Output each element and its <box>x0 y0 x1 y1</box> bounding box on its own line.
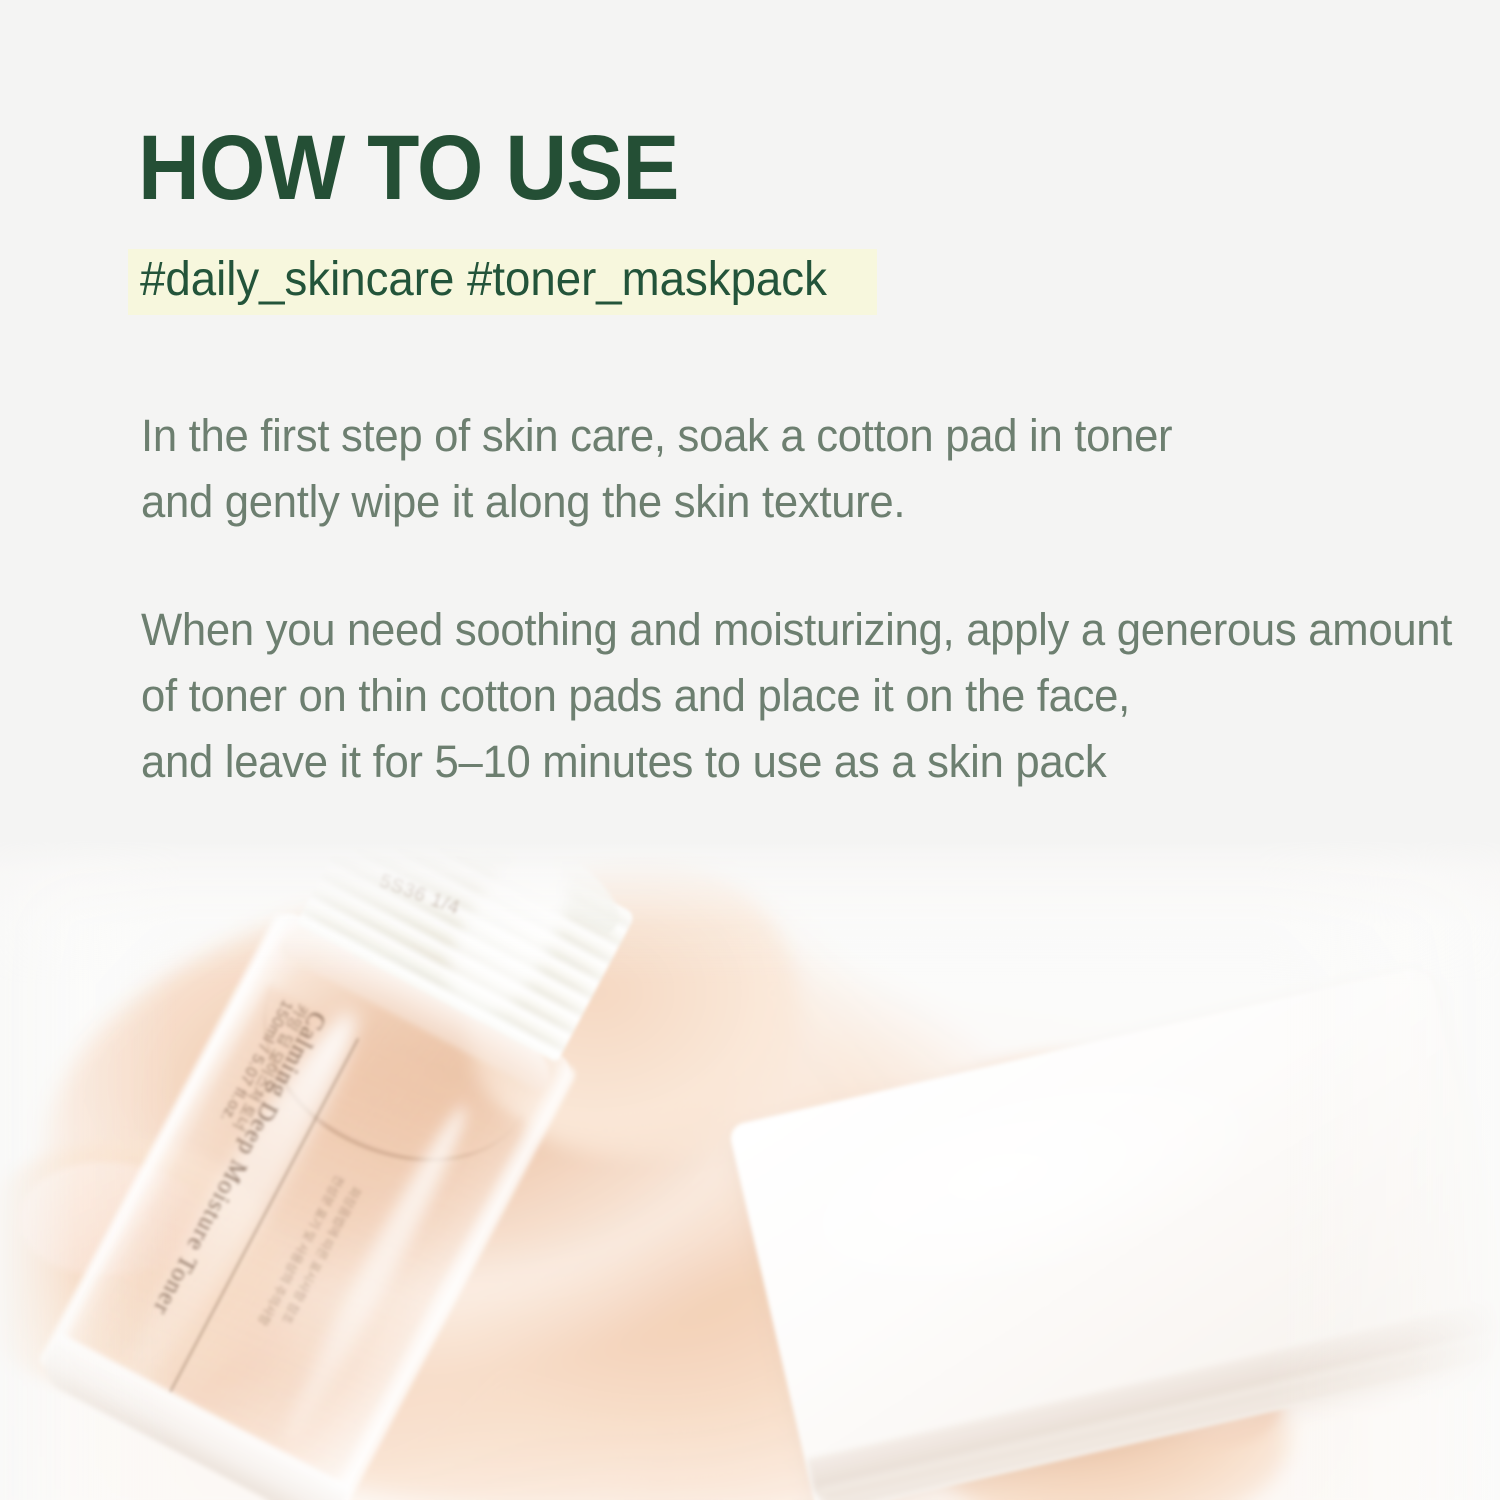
instruction-line: and leave it for 5–10 minutes to use as … <box>141 729 1452 795</box>
how-to-use-infographic: HOW TO USE #daily_skincare #toner_maskpa… <box>0 0 1500 1500</box>
page-title: HOW TO USE <box>138 122 679 214</box>
instruction-line: In the first step of skin care, soak a c… <box>141 403 1452 469</box>
instruction-line: and gently wipe it along the skin textur… <box>141 469 1452 535</box>
instruction-line: of toner on thin cotton pads and place i… <box>141 663 1452 729</box>
product-photo: Calming Deep Moisture Toner 카밍 딥 모이스처 토너… <box>0 840 1500 1500</box>
instructions-body: In the first step of skin care, soak a c… <box>141 403 1452 795</box>
hashtag-text: #daily_skincare #toner_maskpack <box>140 255 827 305</box>
instruction-line: When you need soothing and moisturizing,… <box>141 597 1452 663</box>
hashtag-highlight-band: #daily_skincare #toner_maskpack <box>128 249 877 315</box>
paragraph-spacer <box>141 535 1452 597</box>
